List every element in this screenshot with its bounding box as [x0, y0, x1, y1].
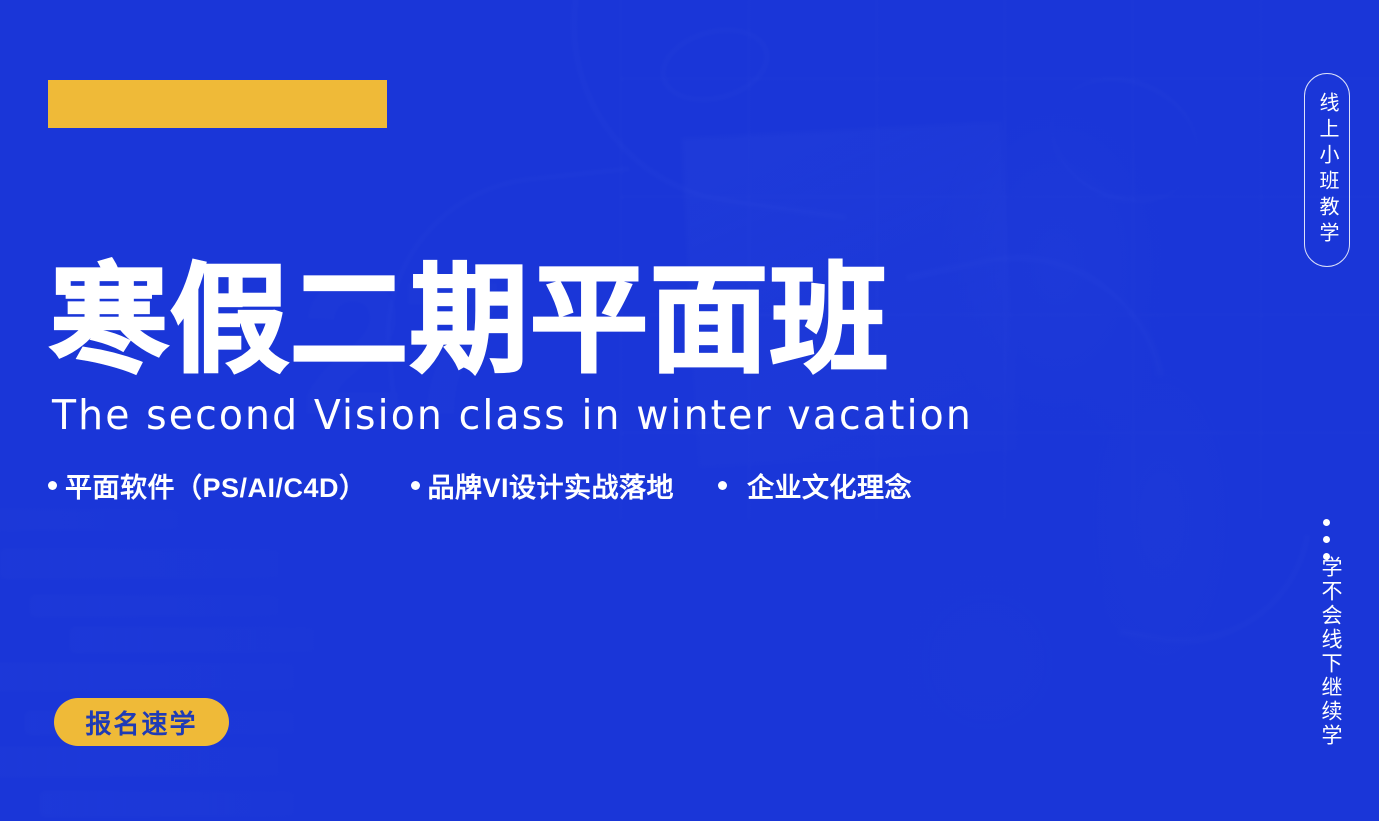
bullet-dot-icon — [48, 481, 57, 490]
dot-icon — [1323, 519, 1330, 526]
page-title: 寒假二期平面班 — [50, 262, 890, 380]
badge-label: 线上小班教学 — [1317, 92, 1337, 248]
accent-bar — [48, 80, 387, 128]
side-slogan: 学不会线下继续学 — [1313, 556, 1341, 748]
poster-content: 寒假二期平面班 The second Vision class in winte… — [0, 0, 1379, 821]
feature-label: 品牌VI设计实战落地 — [428, 466, 675, 505]
online-class-badge: 线上小班教学 — [1304, 73, 1350, 267]
enroll-button[interactable]: 报名速学 — [54, 698, 229, 746]
feature-label: 平面软件（PS/AI/C4D） — [65, 466, 367, 505]
poster-canvas: 27 寒假二期平面班 The second Vision class in wi… — [0, 0, 1379, 821]
page-subtitle: The second Vision class in winter vacati… — [52, 392, 973, 439]
dot-icon — [1323, 536, 1330, 543]
feature-label: 企业文化理念 — [747, 466, 912, 505]
list-item: 企业文化理念 — [718, 466, 912, 505]
bullet-dot-icon — [718, 481, 727, 490]
decorative-dots — [1323, 519, 1330, 560]
bullet-dot-icon — [411, 481, 420, 490]
feature-list: 平面软件（PS/AI/C4D） 品牌VI设计实战落地 企业文化理念 — [48, 466, 912, 505]
list-item: 平面软件（PS/AI/C4D） — [48, 466, 367, 505]
list-item: 品牌VI设计实战落地 — [411, 466, 675, 505]
